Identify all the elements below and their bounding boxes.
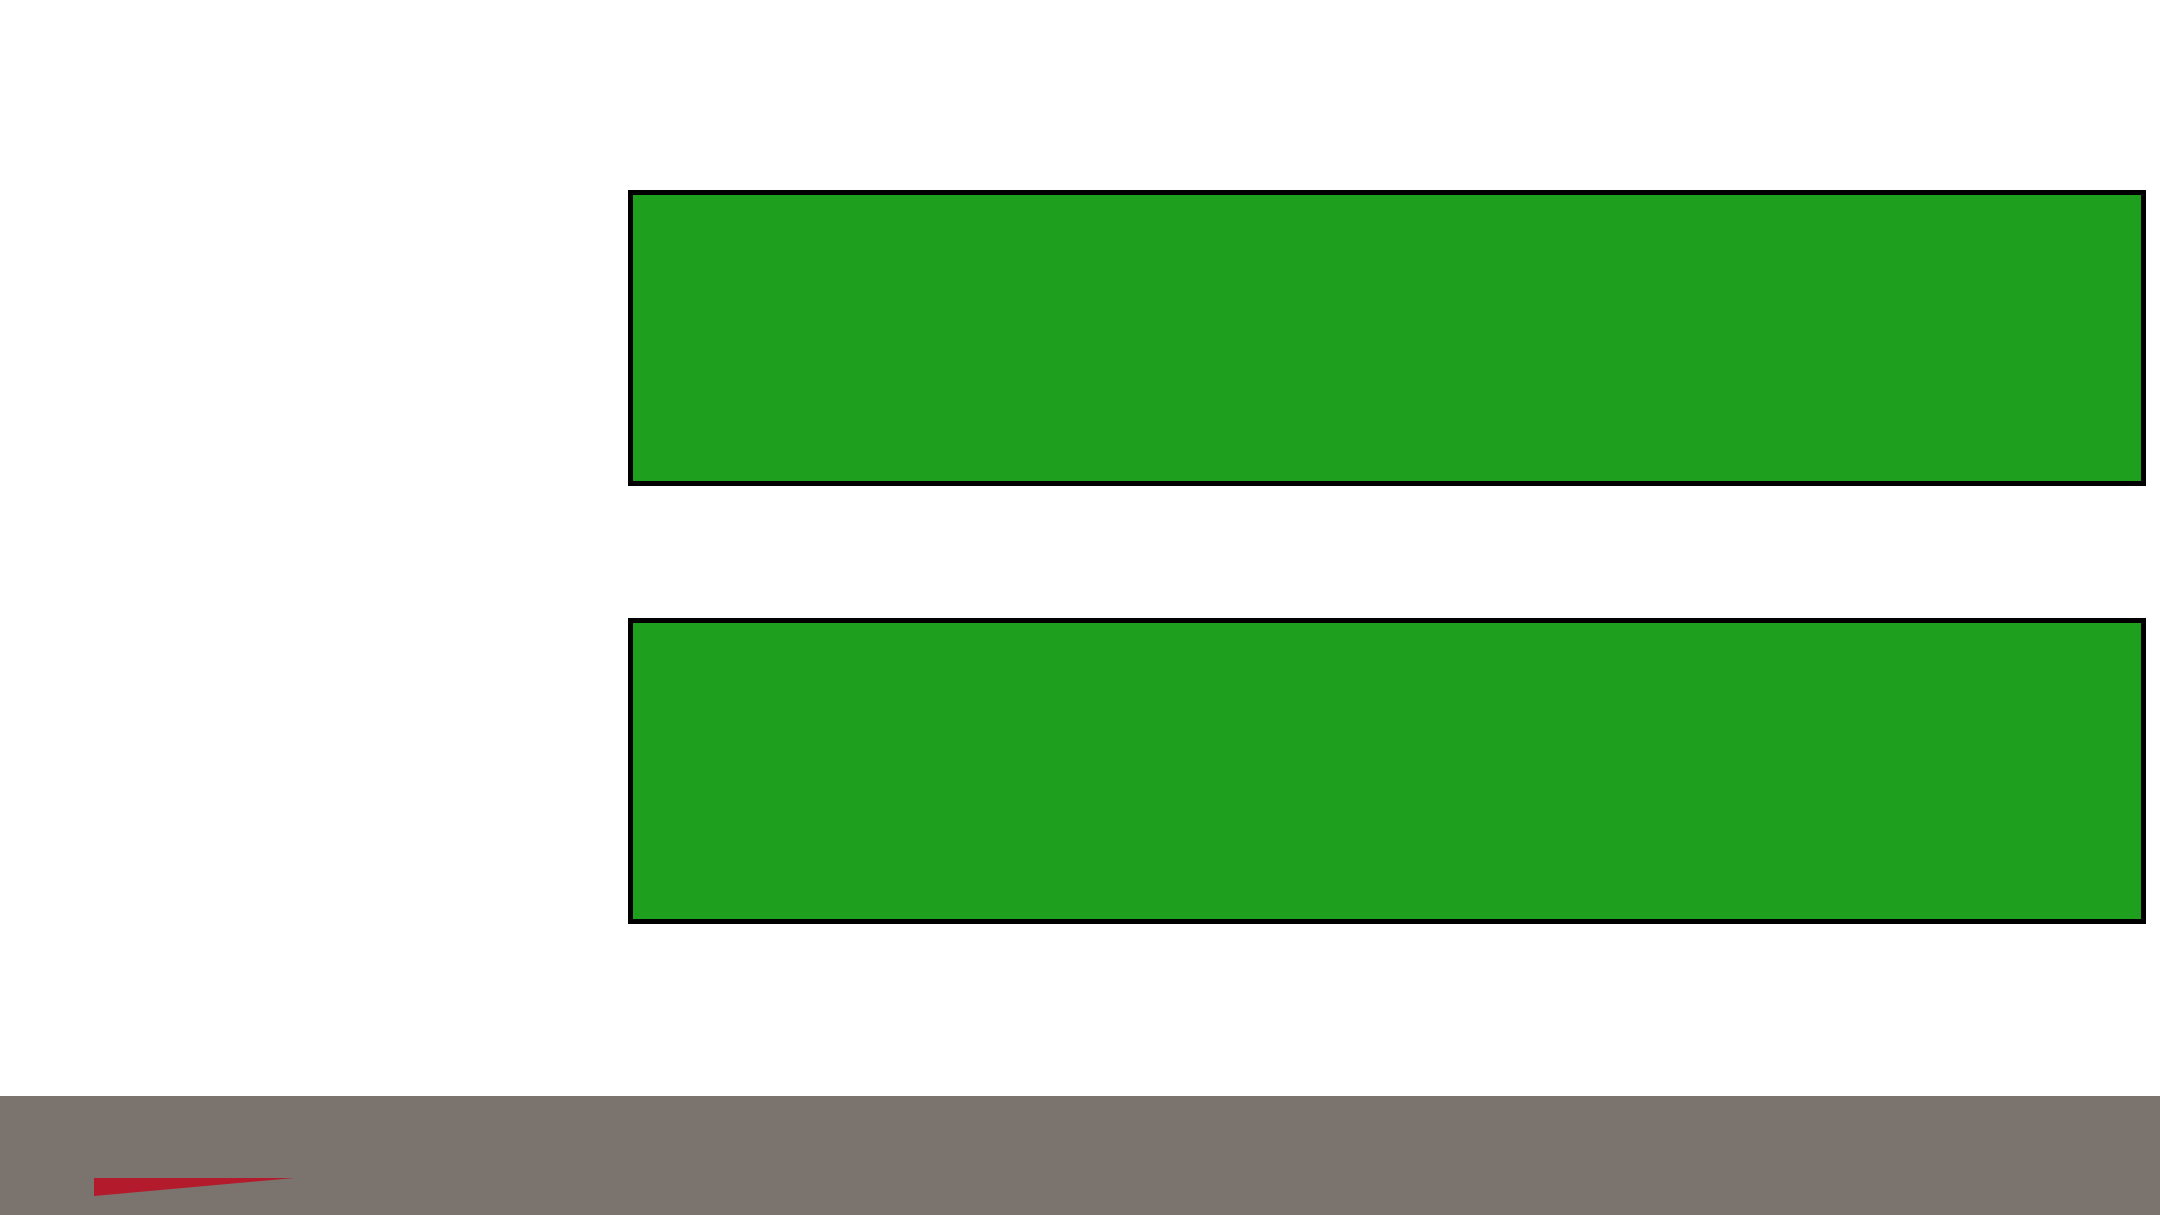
jedec-swoosh-shape xyxy=(94,1178,294,1196)
annotation-overlay xyxy=(0,0,2160,1215)
slide-canvas xyxy=(0,0,2160,1215)
ddr5-dimm-module xyxy=(628,618,2146,924)
jedec-logo xyxy=(66,1116,316,1200)
footer-bar xyxy=(0,1096,2160,1215)
ddr4-dimm-module xyxy=(628,190,2146,486)
